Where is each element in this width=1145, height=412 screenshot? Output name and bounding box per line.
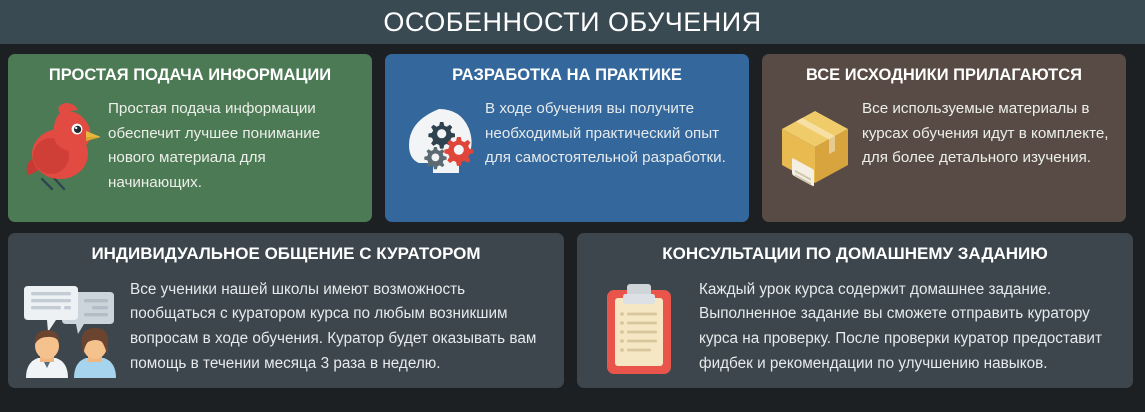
- feature-card-practice-development[interactable]: РАЗРАБОТКА НА ПРАКТИКЕ: [385, 54, 749, 222]
- feature-card-title: ВСЕ ИСХОДНИКИ ПРИЛАГАЮТСЯ: [776, 66, 1112, 85]
- feature-cards-bottom-row: ИНДИВИДУАЛЬНОЕ ОБЩЕНИЕ С КУРАТОРОМ: [0, 222, 1145, 396]
- feature-card-text: Все ученики нашей школы имеют возможност…: [130, 278, 550, 378]
- package-box-icon: [776, 101, 854, 191]
- feature-cards-top-row: ПРОСТАЯ ПОДАЧА ИНФОРМАЦИИ: [0, 44, 1145, 222]
- feature-card-text: В ходе обучения вы получите необходимый …: [485, 97, 735, 171]
- feature-card-title: РАЗРАБОТКА НА ПРАКТИКЕ: [399, 66, 735, 85]
- feature-card-text: Все используемые материалы в курсах обуч…: [862, 97, 1112, 171]
- cardinal-bird-icon: [22, 101, 100, 191]
- feature-card-body: Каждый урок курса содержит домашнее зада…: [591, 278, 1119, 380]
- feature-card-simple-presentation[interactable]: ПРОСТАЯ ПОДАЧА ИНФОРМАЦИИ: [8, 54, 372, 222]
- feature-card-text: Простая подача информации обеспечит лучш…: [108, 97, 358, 196]
- feature-card-text: Каждый урок курса содержит домашнее зада…: [699, 278, 1119, 378]
- clipboard-icon: [591, 280, 687, 380]
- feature-card-title: КОНСУЛЬТАЦИИ ПО ДОМАШНЕМУ ЗАДАНИЮ: [591, 244, 1119, 264]
- feature-card-body: Простая подача информации обеспечит лучш…: [22, 97, 358, 196]
- feature-card-body: В ходе обучения вы получите необходимый …: [399, 97, 735, 191]
- page-header: ОСОБЕННОСТИ ОБУЧЕНИЯ: [0, 0, 1145, 44]
- features-page: ОСОБЕННОСТИ ОБУЧЕНИЯ ПРОСТАЯ ПОДАЧА ИНФО…: [0, 0, 1145, 412]
- page-title: ОСОБЕННОСТИ ОБУЧЕНИЯ: [383, 9, 761, 36]
- chat-people-icon: [22, 280, 118, 380]
- feature-card-body: Все ученики нашей школы имеют возможност…: [22, 278, 550, 380]
- feature-card-body: Все используемые материалы в курсах обуч…: [776, 97, 1112, 191]
- feature-card-title: ИНДИВИДУАЛЬНОЕ ОБЩЕНИЕ С КУРАТОРОМ: [22, 244, 550, 264]
- feature-card-title: ПРОСТАЯ ПОДАЧА ИНФОРМАЦИИ: [22, 66, 358, 85]
- feature-card-all-sources-included[interactable]: ВСЕ ИСХОДНИКИ ПРИЛАГАЮТСЯ: [762, 54, 1126, 222]
- feature-card-homework-consultations[interactable]: КОНСУЛЬТАЦИИ ПО ДОМАШНЕМУ ЗАДАНИЮ: [577, 233, 1133, 388]
- feature-card-individual-curator-communication[interactable]: ИНДИВИДУАЛЬНОЕ ОБЩЕНИЕ С КУРАТОРОМ: [8, 233, 564, 388]
- head-with-gears-icon: [399, 101, 477, 191]
